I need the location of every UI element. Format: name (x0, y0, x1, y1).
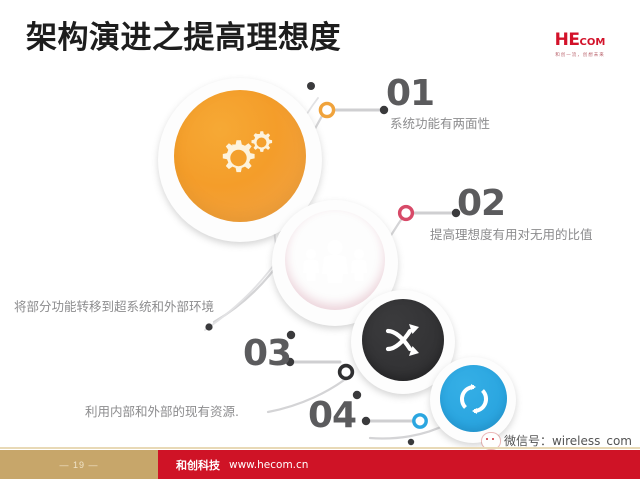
step-caption-01: 系统功能有两面性 (390, 118, 490, 131)
node-marker-04 (414, 415, 426, 427)
step-circle-04[interactable] (440, 365, 507, 432)
step-circle-03[interactable] (362, 299, 444, 381)
step-caption-03: 将部分功能转移到超系统和外部环境 (14, 301, 214, 314)
refresh-sync-icon (457, 382, 491, 416)
step-caption-04: 利用内部和外部的现有资源. (85, 406, 239, 419)
footer-bar: — 19 — 和创科技 www.hecom.cn (0, 450, 640, 479)
node-marker-02 (400, 207, 413, 220)
footer-brand-name: 和创科技 (176, 457, 220, 473)
node-marker-03 (340, 366, 353, 379)
gears-icon (206, 128, 274, 184)
slide-canvas: 架构演进之提高理想度 HECOM 和创一流，创想未来 (0, 0, 640, 479)
step-number-03: 03 (243, 336, 291, 372)
node-marker-01 (320, 103, 333, 116)
step-number-01: 01 (386, 76, 434, 112)
shuffle-arrows-icon (381, 318, 425, 362)
footer-brand: 和创科技 www.hecom.cn (176, 450, 308, 479)
step-number-04: 04 (308, 398, 356, 434)
step-circle-01[interactable] (174, 90, 306, 222)
step-caption-02: 提高理想度有用对无用的比值 (430, 229, 593, 242)
footer-divider (0, 447, 640, 449)
page-number: — 19 — (0, 450, 158, 479)
step-number-02: 02 (457, 186, 505, 222)
people-icon (299, 237, 371, 283)
step-circle-02[interactable] (285, 210, 385, 310)
footer-brand-url[interactable]: www.hecom.cn (229, 459, 308, 471)
